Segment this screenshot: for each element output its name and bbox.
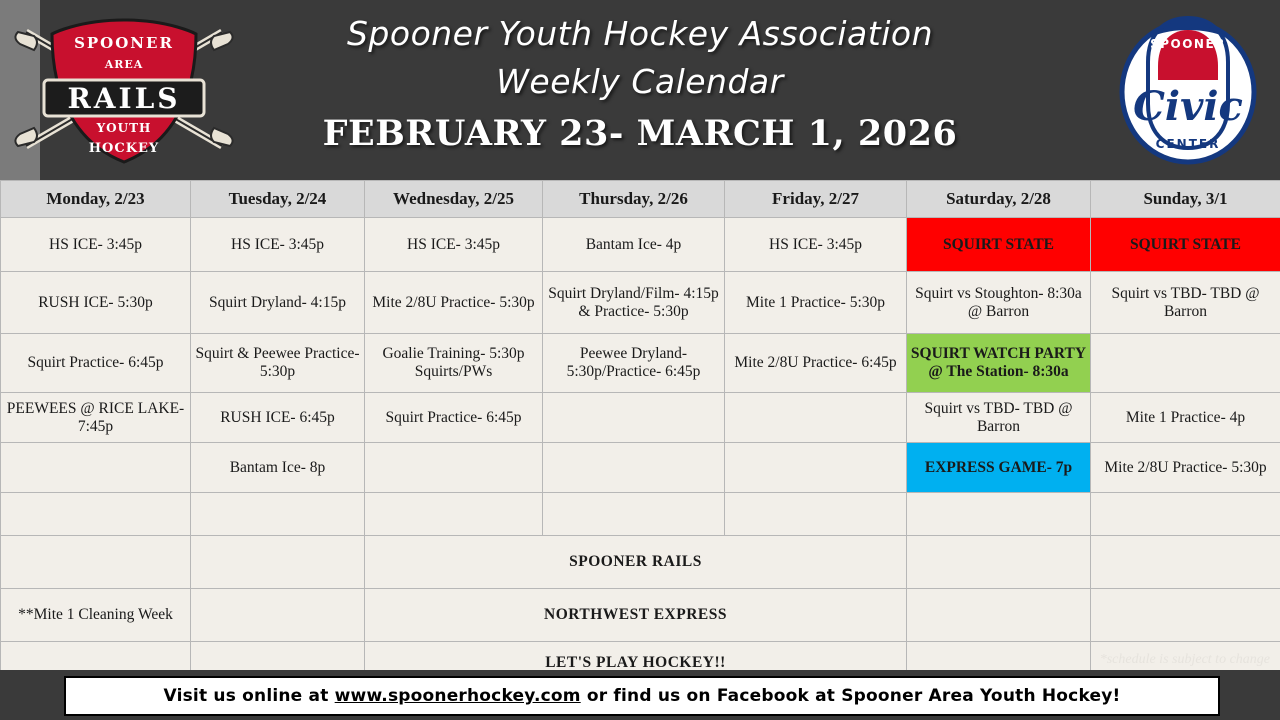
promo-row-2: **Mite 1 Cleaning Week NORTHWEST EXPRESS	[1, 589, 1280, 642]
weekly-calendar-page: RAILS SPOONER AREA YOUTH HOCKEY Spooner …	[0, 0, 1280, 720]
event-cell	[725, 443, 907, 493]
spooner-civic-center-logo: SPOONER Civic CENTER	[1118, 8, 1258, 170]
event-cell-squirt-state-sun: SQUIRT STATE	[1091, 218, 1280, 272]
event-cell	[365, 493, 543, 536]
spooner-rails-logo: RAILS SPOONER AREA YOUTH HOCKEY	[8, 4, 240, 174]
event-cell	[1, 536, 191, 589]
event-cell: Goalie Training- 5:30p Squirts/PWs	[365, 334, 543, 393]
promo-line-1: SPOONER RAILS	[365, 536, 907, 589]
event-cell	[365, 443, 543, 493]
column-header-wednesday: Wednesday, 2/25	[365, 181, 543, 218]
civic-main-text: Civic	[1133, 83, 1243, 130]
event-cell	[1091, 536, 1280, 589]
table-row: HS ICE- 3:45p HS ICE- 3:45p HS ICE- 3:45…	[1, 218, 1280, 272]
civic-center-text: CENTER	[1156, 137, 1221, 151]
event-cell: Mite 2/8U Practice- 6:45p	[725, 334, 907, 393]
event-cell-express-game: EXPRESS GAME- 7p	[907, 443, 1091, 493]
event-cell	[1, 493, 191, 536]
event-cell	[191, 589, 365, 642]
footer-text: Visit us online at www.spoonerhockey.com…	[164, 686, 1121, 706]
table-row: Squirt Practice- 6:45p Squirt & Peewee P…	[1, 334, 1280, 393]
event-cell: HS ICE- 3:45p	[191, 218, 365, 272]
event-cell: Mite 1 Practice- 4p	[1091, 393, 1280, 443]
mite-cleaning-note: **Mite 1 Cleaning Week	[1, 589, 191, 642]
event-cell	[543, 393, 725, 443]
event-cell	[725, 393, 907, 443]
table-row: Bantam Ice- 8p EXPRESS GAME- 7p Mite 2/8…	[1, 443, 1280, 493]
civic-spooner-text: SPOONER	[1150, 37, 1226, 51]
event-cell: Squirt Dryland/Film- 4:15p & Practice- 5…	[543, 272, 725, 334]
logo-youth-text: YOUTH	[96, 121, 152, 135]
logo-hockey-text: HOCKEY	[89, 141, 159, 156]
date-range: FEBRUARY 23- MARCH 1, 2026	[250, 112, 1030, 156]
event-cell	[907, 493, 1091, 536]
table-row	[1, 493, 1280, 536]
event-cell: Bantam Ice- 8p	[191, 443, 365, 493]
event-cell: Peewee Dryland- 5:30p/Practice- 6:45p	[543, 334, 725, 393]
page-title-line1: Spooner Youth Hockey Association	[250, 10, 1030, 58]
weekly-schedule-table: Monday, 2/23 Tuesday, 2/24 Wednesday, 2/…	[0, 180, 1280, 685]
event-cell: Mite 2/8U Practice- 5:30p	[365, 272, 543, 334]
column-header-monday: Monday, 2/23	[1, 181, 191, 218]
event-cell: HS ICE- 3:45p	[1, 218, 191, 272]
column-header-thursday: Thursday, 2/26	[543, 181, 725, 218]
promo-row-1: SPOONER RAILS	[1, 536, 1280, 589]
event-cell: Squirt Dryland- 4:15p	[191, 272, 365, 334]
footer-text-after: or find us on Facebook at Spooner Area Y…	[581, 686, 1121, 706]
event-cell	[1091, 589, 1280, 642]
header: RAILS SPOONER AREA YOUTH HOCKEY Spooner …	[0, 0, 1280, 180]
promo-line-2: NORTHWEST EXPRESS	[365, 589, 907, 642]
event-cell	[1091, 334, 1280, 393]
event-cell: Squirt Practice- 6:45p	[365, 393, 543, 443]
event-cell: PEEWEES @ RICE LAKE- 7:45p	[1, 393, 191, 443]
column-header-tuesday: Tuesday, 2/24	[191, 181, 365, 218]
footer: Visit us online at www.spoonerhockey.com…	[0, 670, 1280, 720]
event-cell: RUSH ICE- 6:45p	[191, 393, 365, 443]
logo-rails-text: RAILS	[68, 82, 181, 115]
event-cell: HS ICE- 3:45p	[725, 218, 907, 272]
event-cell	[1091, 493, 1280, 536]
column-header-sunday: Sunday, 3/1	[1091, 181, 1280, 218]
footer-text-before: Visit us online at	[164, 686, 335, 706]
schedule-disclaimer: *schedule is subject to change	[1100, 652, 1270, 668]
event-cell	[725, 493, 907, 536]
event-cell	[191, 493, 365, 536]
event-cell	[191, 536, 365, 589]
table-header-row: Monday, 2/23 Tuesday, 2/24 Wednesday, 2/…	[1, 181, 1280, 218]
event-cell	[907, 536, 1091, 589]
event-cell: Squirt vs TBD- TBD @ Barron	[907, 393, 1091, 443]
event-cell: HS ICE- 3:45p	[365, 218, 543, 272]
title-block: Spooner Youth Hockey Association Weekly …	[250, 10, 1030, 156]
page-title-line2: Weekly Calendar	[250, 58, 1030, 106]
column-header-friday: Friday, 2/27	[725, 181, 907, 218]
event-cell	[1, 443, 191, 493]
event-cell: Squirt Practice- 6:45p	[1, 334, 191, 393]
table-row: PEEWEES @ RICE LAKE- 7:45p RUSH ICE- 6:4…	[1, 393, 1280, 443]
logo-area-text: AREA	[104, 58, 144, 71]
website-link[interactable]: www.spoonerhockey.com	[335, 686, 581, 706]
event-cell: Bantam Ice- 4p	[543, 218, 725, 272]
event-cell: Squirt vs Stoughton- 8:30a @ Barron	[907, 272, 1091, 334]
event-cell	[543, 443, 725, 493]
event-cell: RUSH ICE- 5:30p	[1, 272, 191, 334]
logo-spooner-text: SPOONER	[74, 34, 174, 52]
column-header-saturday: Saturday, 2/28	[907, 181, 1091, 218]
table-row: RUSH ICE- 5:30p Squirt Dryland- 4:15p Mi…	[1, 272, 1280, 334]
event-cell-squirt-state-sat: SQUIRT STATE	[907, 218, 1091, 272]
event-cell: Mite 1 Practice- 5:30p	[725, 272, 907, 334]
event-cell	[907, 589, 1091, 642]
event-cell-squirt-watch-party: SQUIRT WATCH PARTY @ The Station- 8:30a	[907, 334, 1091, 393]
event-cell: Squirt vs TBD- TBD @ Barron	[1091, 272, 1280, 334]
event-cell: Mite 2/8U Practice- 5:30p	[1091, 443, 1280, 493]
event-cell	[543, 493, 725, 536]
footer-bar: Visit us online at www.spoonerhockey.com…	[64, 676, 1220, 716]
event-cell: Squirt & Peewee Practice- 5:30p	[191, 334, 365, 393]
